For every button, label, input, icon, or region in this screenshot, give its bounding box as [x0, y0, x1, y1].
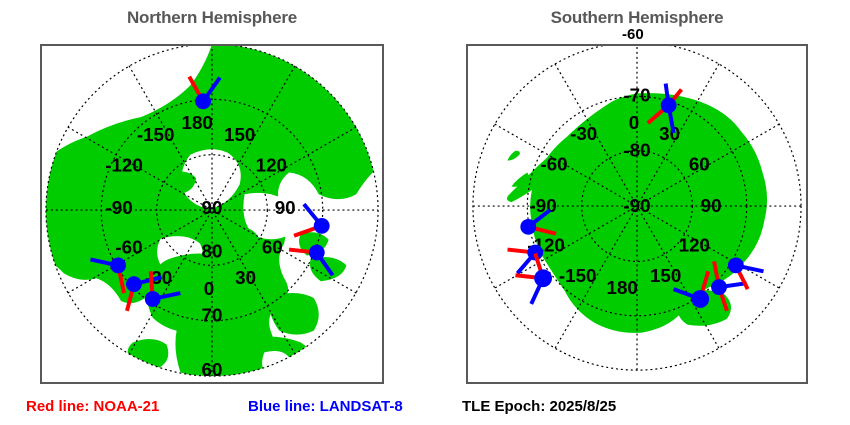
- svg-text:-90: -90: [623, 195, 650, 216]
- legend-red-line: Red line: NOAA-21: [26, 398, 159, 415]
- page-title-south: Southern Hemisphere: [466, 8, 808, 28]
- svg-text:80: 80: [202, 240, 223, 261]
- svg-text:60: 60: [689, 154, 710, 175]
- visualization-stage: Northern Hemisphere Southern Hemisphere …: [0, 0, 850, 425]
- svg-text:180: 180: [607, 277, 638, 298]
- svg-text:-80: -80: [623, 140, 650, 161]
- svg-text:-60: -60: [115, 237, 142, 258]
- svg-text:0: 0: [204, 278, 214, 299]
- svg-text:90: 90: [701, 195, 722, 216]
- svg-text:180: 180: [182, 112, 213, 133]
- south-map-svg: -90 -80 -70 0 30 60 90 120 150 180 -150 …: [468, 46, 806, 382]
- svg-text:60: 60: [262, 237, 283, 258]
- svg-text:120: 120: [256, 155, 287, 176]
- svg-text:-30: -30: [570, 123, 597, 144]
- svg-text:-90: -90: [530, 195, 557, 216]
- svg-text:120: 120: [679, 235, 710, 256]
- map-south-hemisphere[interactable]: -90 -80 -70 0 30 60 90 120 150 180 -150 …: [466, 44, 808, 384]
- map-north-hemisphere[interactable]: 90 80 70 60 180 150 120 90 60 30 0 -30 -…: [40, 44, 384, 384]
- svg-text:90: 90: [275, 197, 296, 218]
- svg-text:-120: -120: [105, 155, 143, 176]
- legend-blue-line: Blue line: LANDSAT-8: [248, 398, 403, 415]
- north-map-svg: 90 80 70 60 180 150 120 90 60 30 0 -30 -…: [42, 46, 382, 382]
- page-title-north: Northern Hemisphere: [40, 8, 384, 28]
- svg-text:150: 150: [224, 124, 255, 145]
- svg-text:-150: -150: [137, 124, 175, 145]
- svg-text:150: 150: [650, 265, 681, 286]
- svg-text:70: 70: [202, 305, 223, 326]
- svg-text:30: 30: [235, 267, 256, 288]
- svg-text:-60: -60: [540, 154, 567, 175]
- svg-text:-90: -90: [106, 197, 133, 218]
- svg-text:-150: -150: [559, 265, 597, 286]
- legend-tle-epoch: TLE Epoch: 2025/8/25: [462, 398, 616, 415]
- svg-text:60: 60: [202, 359, 223, 380]
- south-outer-lat-label: -60: [622, 26, 644, 43]
- svg-text:90: 90: [202, 197, 223, 218]
- svg-text:30: 30: [659, 123, 680, 144]
- svg-text:-70: -70: [623, 84, 650, 105]
- svg-text:0: 0: [629, 112, 639, 133]
